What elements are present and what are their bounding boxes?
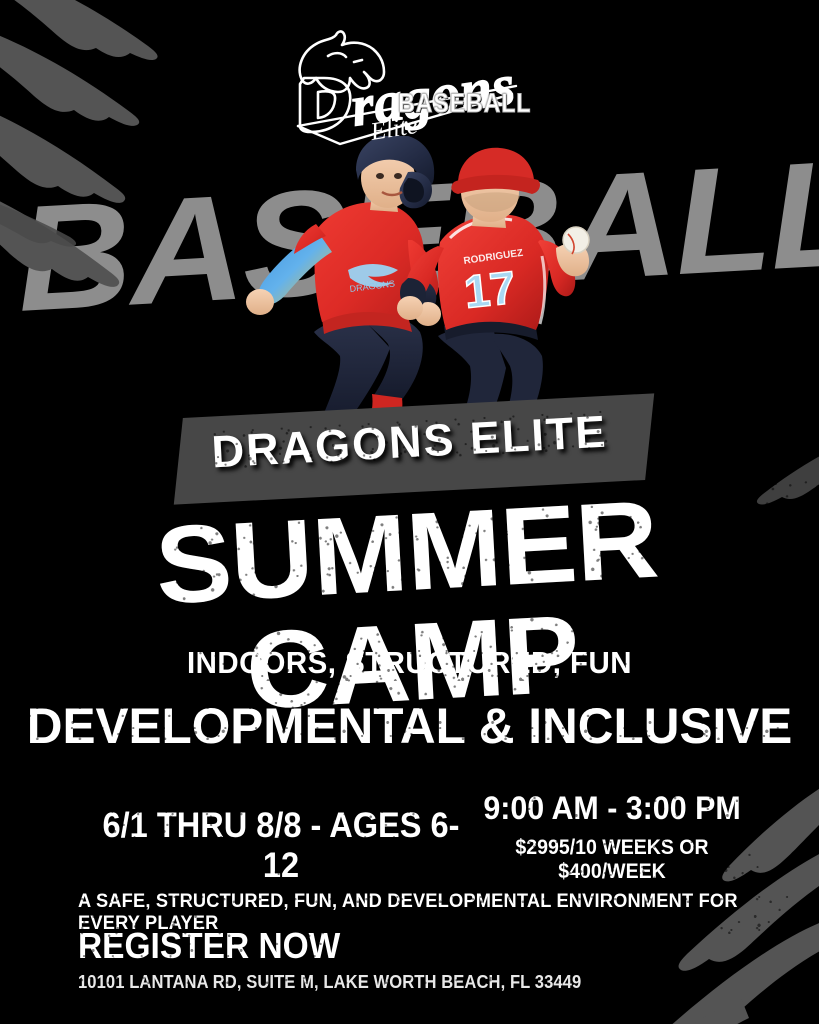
subhead-line-2: DEVELOPMENTAL & INCLUSIVE xyxy=(4,697,815,755)
jersey-number: 17 xyxy=(462,261,518,318)
register-now-cta[interactable]: REGISTER NOW xyxy=(78,925,340,967)
logo-sport-label: BASEBALL xyxy=(398,88,531,119)
dates-and-ages: 6/1 THRU 8/8 - AGES 6-12 xyxy=(100,806,463,886)
dragons-elite-logo: ragons Elite xyxy=(280,22,540,147)
subhead-line-1: INDOORS, STRUCTURED, FUN xyxy=(20,645,798,681)
flyer-poster: BASEBALL xyxy=(0,0,819,1024)
players-photo: DRAGONS xyxy=(222,136,602,426)
camp-price: $2995/10 WEEKS OR $400/WEEK xyxy=(463,836,761,884)
dragon-head-icon: ragons Elite xyxy=(280,22,540,147)
camp-hours: 9:00 AM - 3:00 PM xyxy=(460,790,764,827)
venue-address: 10101 LANTANA RD, SUITE M, LAKE WORTH BE… xyxy=(78,972,581,993)
